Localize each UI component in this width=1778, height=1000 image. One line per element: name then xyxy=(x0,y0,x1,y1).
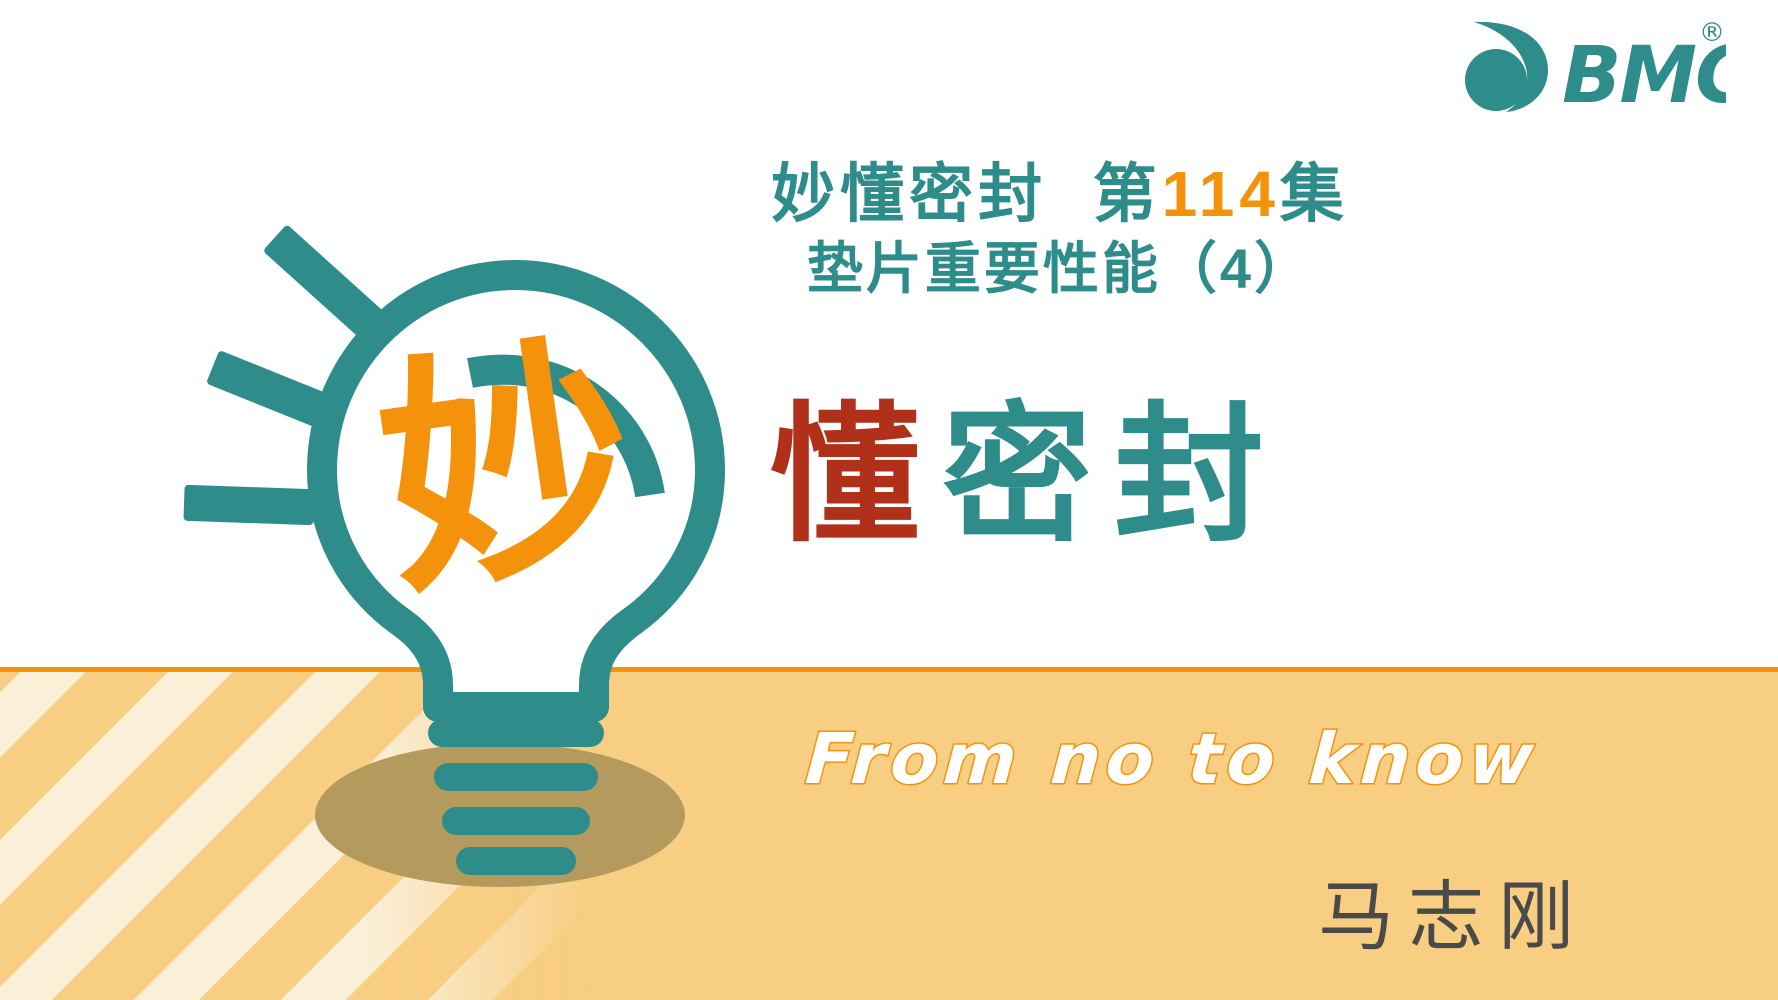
wordmark-char-mi: 密 xyxy=(942,391,1114,559)
author-name: 马志刚 xyxy=(1318,855,1588,965)
bmc-logo: BMC ® xyxy=(1456,14,1726,119)
bmc-swoosh-icon xyxy=(1465,22,1548,112)
heading-line-2: 垫片重要性能（4） xyxy=(620,237,1500,301)
episode-prefix: 第 xyxy=(1093,158,1162,230)
episode-suffix: 集 xyxy=(1280,158,1349,230)
wordmark-char-dong: 懂 xyxy=(770,391,942,559)
registered-trademark-icon: ® xyxy=(1699,18,1725,48)
brand-wordmark: 懂密封 xyxy=(770,400,1286,550)
bulb-glyph: 妙 xyxy=(363,308,651,631)
slide-canvas: 妙 BMC ® 妙懂密封 第114集 垫片重要性能（4） 懂密封 From no… xyxy=(0,0,1778,1000)
episode-number: 114 xyxy=(1162,158,1280,230)
lightbulb-idea-icon: 妙 xyxy=(170,255,770,905)
heading-line-1: 妙懂密封 第114集 xyxy=(620,158,1500,231)
series-title: 妙懂密封 xyxy=(771,158,1047,230)
episode-heading: 妙懂密封 第114集 垫片重要性能（4） xyxy=(620,158,1500,301)
tagline: From no to know xyxy=(803,718,1541,800)
wordmark-char-feng: 封 xyxy=(1114,391,1286,559)
